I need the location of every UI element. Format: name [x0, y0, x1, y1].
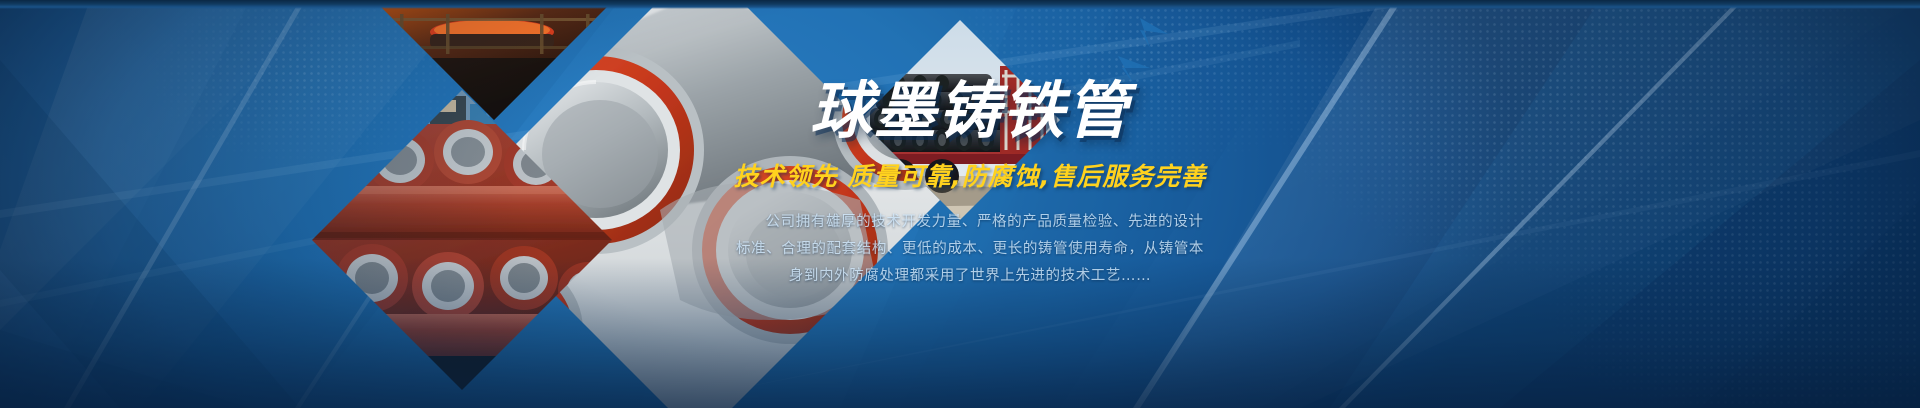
top-edge-strip: [0, 0, 1920, 9]
banner-copy: 球墨铸铁管 技术领先 质量可靠,防腐蚀,售后服务完善 公司拥有雄厚的技术开发力量…: [660, 78, 1280, 290]
photo-furnace-molten-metal: [374, 0, 620, 120]
description-line-1: 公司拥有雄厚的技术开发力量、严格的产品质量检验、先进的设计: [660, 209, 1280, 236]
description-line-2: 标准、合理的配套结构、更低的成本、更长的铸管使用寿命，从铸管本: [660, 236, 1280, 263]
photo-stacked-red-pipes: [312, 90, 618, 390]
banner-headline: 球墨铸铁管: [660, 78, 1280, 143]
product-banner: 球墨铸铁管 技术领先 质量可靠,防腐蚀,售后服务完善 公司拥有雄厚的技术开发力量…: [0, 0, 1920, 408]
banner-subheadline: 技术领先 质量可靠,防腐蚀,售后服务完善: [660, 157, 1280, 193]
description-line-3: 身到内外防腐处理都采用了世界上先进的技术工艺……: [660, 263, 1280, 290]
banner-description: 公司拥有雄厚的技术开发力量、严格的产品质量检验、先进的设计 标准、合理的配套结构…: [660, 209, 1280, 289]
